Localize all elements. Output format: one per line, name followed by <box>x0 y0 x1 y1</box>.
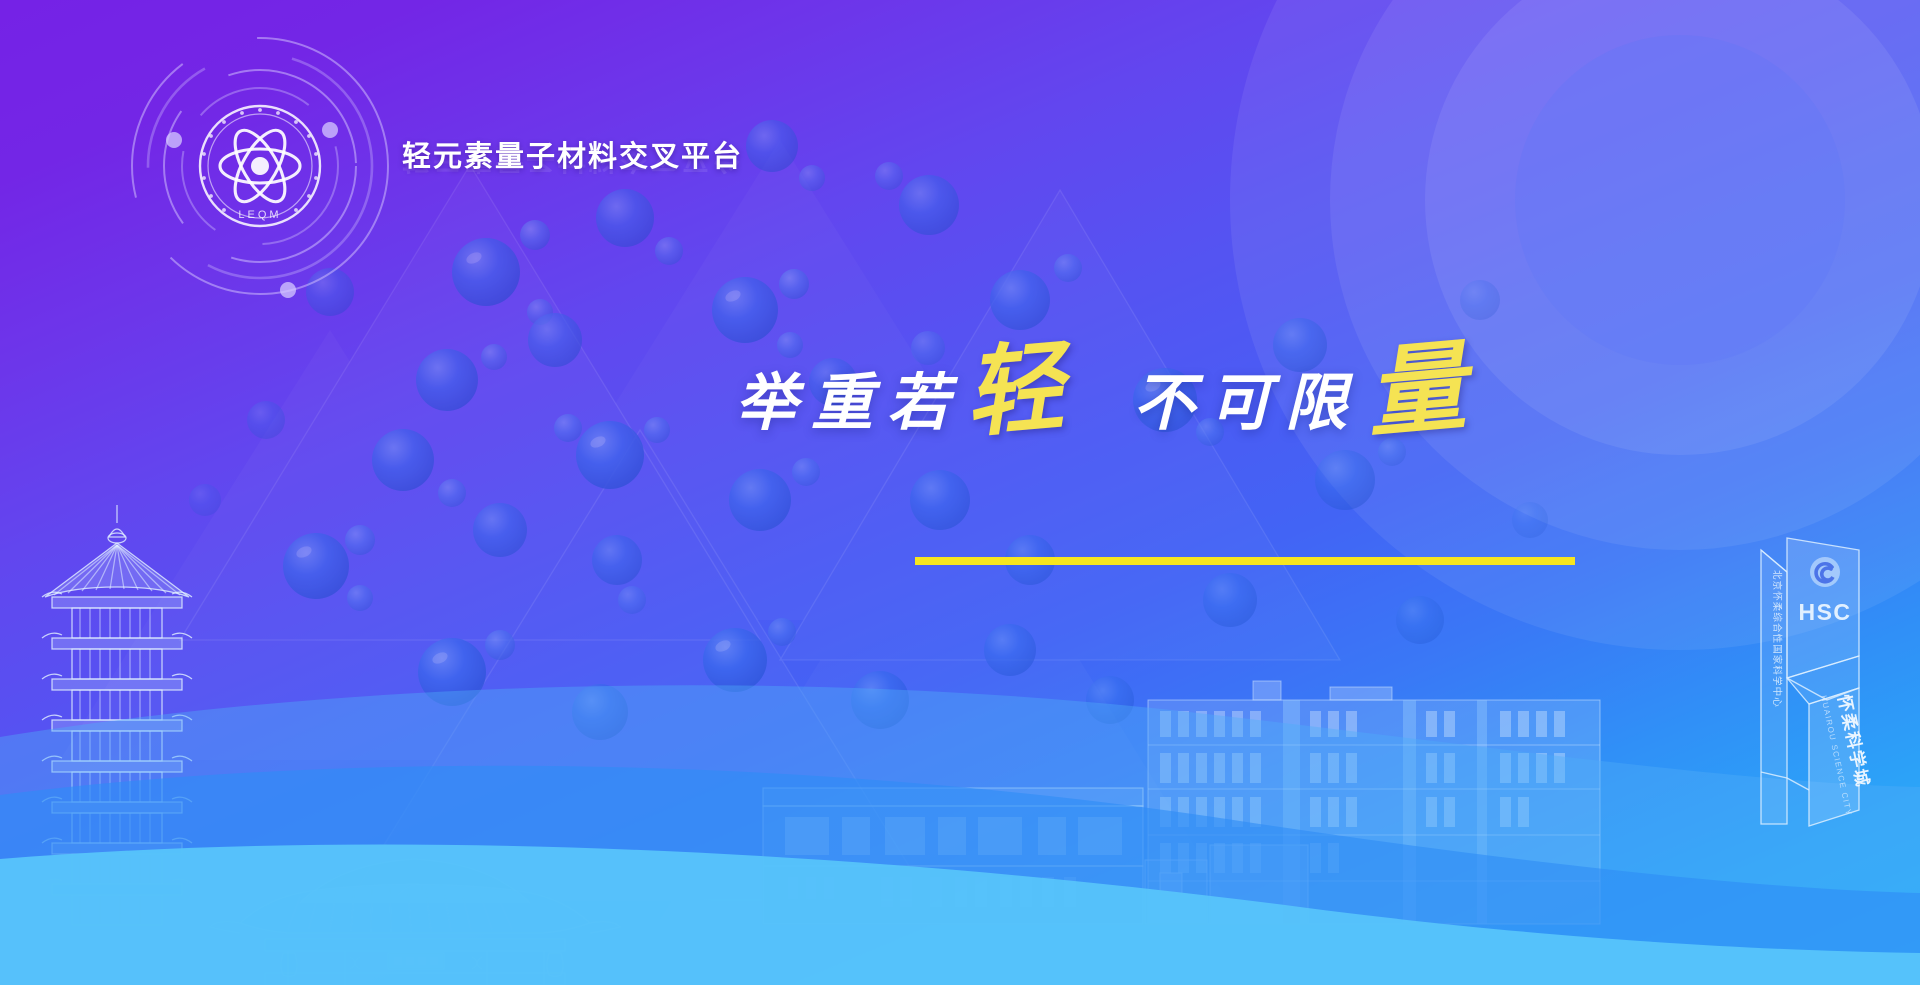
slogan-underline <box>915 557 1575 565</box>
spiral-logo-icon <box>1810 557 1840 587</box>
wave-front <box>0 845 1920 985</box>
hsc-wordmark: HSC <box>1798 599 1851 625</box>
hsc-vertical-cn: 北京怀柔综合性国家科学中心 <box>1771 570 1783 708</box>
wave-layers <box>0 645 1920 985</box>
platform-logo[interactable]: LEQM <box>112 18 392 308</box>
office-block-line-art <box>1148 681 1600 924</box>
slogan-part-1: 举重若 <box>735 373 963 435</box>
skyline-illustration <box>0 505 1920 985</box>
slogan-accent-2: 量 <box>1363 341 1469 439</box>
ring-inner <box>1515 35 1845 365</box>
traditional-gate-hall-line-art <box>210 859 620 985</box>
ring-third <box>1425 0 1920 455</box>
slogan-accent-1: 轻 <box>961 341 1067 439</box>
slogan-part-2: 不可限 <box>1133 373 1361 435</box>
page-title: 轻元素量子材料交叉平台 <box>402 133 743 175</box>
atom-emblem-icon: LEQM <box>200 106 320 226</box>
pagoda-line-art <box>42 505 192 925</box>
ring-second <box>1330 0 1920 550</box>
wave-back <box>0 685 1920 985</box>
hsc-landmark-marker: HSC 北京怀柔综合性国家科学中心 怀柔科学城 HUAIROU SCIENCE … <box>1735 528 1895 828</box>
wave-mid <box>0 766 1920 985</box>
laboratory-building-line-art <box>763 788 1308 924</box>
slogan: 举重若 轻 不可限 量 <box>735 345 1465 435</box>
svg-text:LEQM: LEQM <box>238 209 281 221</box>
banner-stage: LEQM 轻元素量子材料交叉平台 轻元素量子材料交叉平台 举重若 轻 不可限 量 <box>0 0 1920 985</box>
